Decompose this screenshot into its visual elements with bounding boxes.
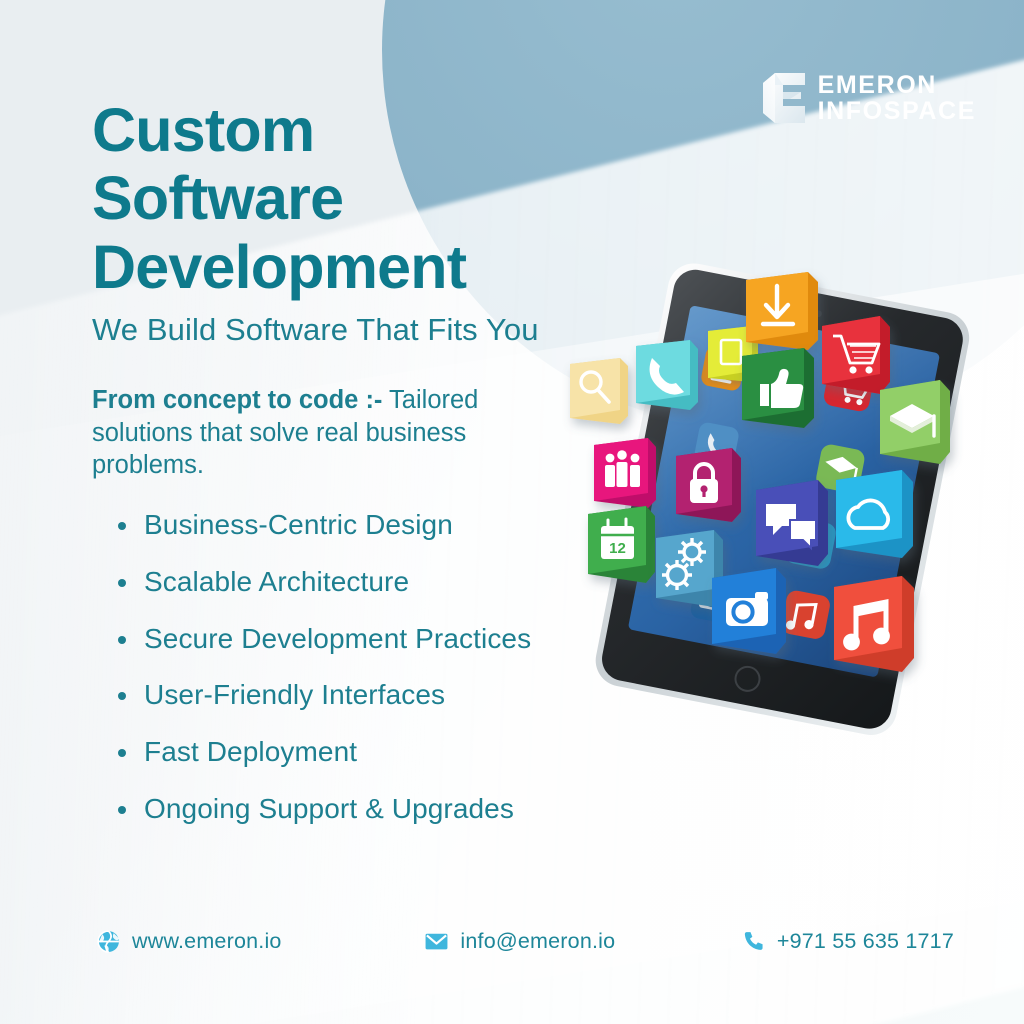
list-item: Secure Development Practices bbox=[112, 624, 531, 655]
app-tile-calendar: 12 bbox=[588, 506, 655, 583]
brand-logo[interactable]: EMERON INFOSPACE bbox=[763, 72, 976, 124]
app-tile-camera bbox=[712, 568, 786, 654]
poster-canvas: EMERON INFOSPACE Custom Software Develop… bbox=[0, 0, 1024, 1024]
phone-icon bbox=[741, 929, 766, 954]
app-tile-cloud bbox=[836, 470, 913, 558]
app-tile-graduation-cap bbox=[880, 380, 950, 464]
list-item: Business-Centric Design bbox=[112, 510, 531, 541]
contact-phone[interactable]: +971 55 635 1717 bbox=[741, 929, 954, 954]
globe-icon bbox=[96, 929, 121, 954]
headline-line-3: Development bbox=[92, 233, 712, 301]
headline-line-1: Custom bbox=[92, 96, 712, 164]
envelope-icon bbox=[424, 929, 449, 954]
app-tile-shopping-cart bbox=[822, 316, 890, 394]
hero-copy-block: Custom Software Development We Build Sof… bbox=[92, 96, 712, 482]
app-tile-chat-bubbles bbox=[756, 480, 828, 566]
lede-strong: From concept to code :- bbox=[92, 386, 382, 414]
list-item: User-Friendly Interfaces bbox=[112, 680, 531, 711]
app-tile-thumbs-up bbox=[742, 348, 814, 428]
app-tile-music-note bbox=[834, 576, 914, 672]
svg-text:12: 12 bbox=[609, 540, 626, 557]
page-title: Custom Software Development bbox=[92, 96, 712, 301]
app-tile-download bbox=[746, 272, 818, 350]
list-item: Scalable Architecture bbox=[112, 567, 531, 598]
lede-paragraph: From concept to code :- Tailored solutio… bbox=[92, 384, 582, 482]
contact-email[interactable]: info@emeron.io bbox=[424, 929, 740, 954]
faceted-e-logo-icon bbox=[763, 73, 805, 123]
contact-email-label: info@emeron.io bbox=[460, 929, 615, 954]
contact-phone-label: +971 55 635 1717 bbox=[777, 929, 954, 954]
headline-line-2: Software bbox=[92, 164, 712, 232]
contact-website-label: www.emeron.io bbox=[132, 929, 282, 954]
footer-contact-bar: www.emeron.io info@emeron.io +971 55 635… bbox=[96, 929, 954, 954]
screen-app-icon-music-note bbox=[780, 589, 832, 641]
subheadline: We Build Software That Fits You bbox=[92, 312, 712, 348]
list-item: Fast Deployment bbox=[112, 737, 531, 768]
contact-website[interactable]: www.emeron.io bbox=[96, 929, 424, 954]
brand-wordmark: EMERON INFOSPACE bbox=[818, 72, 976, 124]
brand-line-1: EMERON bbox=[818, 72, 976, 98]
list-item: Ongoing Support & Upgrades bbox=[112, 794, 531, 825]
feature-list: Business-Centric Design Scalable Archite… bbox=[112, 510, 531, 851]
brand-line-2: INFOSPACE bbox=[818, 98, 976, 124]
